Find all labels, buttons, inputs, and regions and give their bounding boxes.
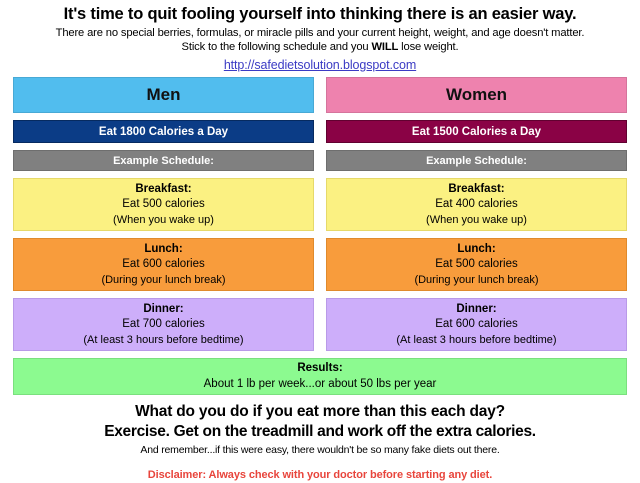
men-dinner-amount: Eat 700 calories — [18, 317, 309, 333]
women-dinner-amount: Eat 600 calories — [331, 317, 622, 333]
men-dinner-title: Dinner: — [18, 302, 309, 318]
schedule-grid: Men Eat 1800 Calories a Day Example Sche… — [0, 77, 640, 358]
results-title: Results: — [14, 361, 626, 377]
footer-question: What do you do if you eat more than this… — [8, 402, 632, 422]
subtitle-line-2-before: Stick to the following schedule and you — [182, 41, 372, 53]
women-breakfast-amount: Eat 400 calories — [331, 197, 622, 213]
disclaimer-text: Disclaimer: Always check with your docto… — [8, 469, 632, 481]
women-dinner-title: Dinner: — [331, 302, 622, 318]
women-breakfast-note: (When you wake up) — [331, 213, 622, 228]
men-breakfast-note: (When you wake up) — [18, 213, 309, 228]
women-lunch-title: Lunch: — [331, 242, 622, 258]
men-gender-header: Men — [13, 77, 314, 113]
women-lunch-amount: Eat 500 calories — [331, 257, 622, 273]
women-breakfast-card: Breakfast: Eat 400 calories (When you wa… — [326, 178, 627, 231]
women-lunch-note: (During your lunch break) — [331, 273, 622, 288]
subtitle-line-2: Stick to the following schedule and you … — [8, 40, 632, 55]
men-breakfast-amount: Eat 500 calories — [18, 197, 309, 213]
headline: It's time to quit fooling yourself into … — [8, 4, 632, 25]
women-dinner-note: (At least 3 hours before bedtime) — [331, 333, 622, 348]
men-lunch-card: Lunch: Eat 600 calories (During your lun… — [13, 238, 314, 291]
women-example-schedule-label: Example Schedule: — [326, 150, 627, 171]
men-lunch-title: Lunch: — [18, 242, 309, 258]
results-section: Results: About 1 lb per week...or about … — [0, 358, 640, 395]
footer-answer: Exercise. Get on the treadmill and work … — [8, 422, 632, 442]
footer-note: And remember...if this were easy, there … — [8, 444, 632, 456]
men-dinner-note: (At least 3 hours before bedtime) — [18, 333, 309, 348]
women-breakfast-title: Breakfast: — [331, 182, 622, 198]
footer-section: What do you do if you eat more than this… — [0, 395, 640, 481]
subtitle-line-2-after: lose weight. — [398, 41, 458, 53]
column-men: Men Eat 1800 Calories a Day Example Sche… — [13, 77, 314, 358]
men-breakfast-card: Breakfast: Eat 500 calories (When you wa… — [13, 178, 314, 231]
infographic-page: It's time to quit fooling yourself into … — [0, 0, 640, 483]
women-lunch-card: Lunch: Eat 500 calories (During your lun… — [326, 238, 627, 291]
subtitle-line-1: There are no special berries, formulas, … — [8, 26, 632, 41]
men-example-schedule-label: Example Schedule: — [13, 150, 314, 171]
men-dinner-card: Dinner: Eat 700 calories (At least 3 hou… — [13, 298, 314, 351]
results-card: Results: About 1 lb per week...or about … — [13, 358, 627, 395]
men-lunch-note: (During your lunch break) — [18, 273, 309, 288]
column-women: Women Eat 1500 Calories a Day Example Sc… — [326, 77, 627, 358]
women-dinner-card: Dinner: Eat 600 calories (At least 3 hou… — [326, 298, 627, 351]
header-section: It's time to quit fooling yourself into … — [0, 0, 640, 72]
women-calorie-target: Eat 1500 Calories a Day — [326, 120, 627, 143]
men-lunch-amount: Eat 600 calories — [18, 257, 309, 273]
women-gender-header: Women — [326, 77, 627, 113]
men-calorie-target: Eat 1800 Calories a Day — [13, 120, 314, 143]
men-breakfast-title: Breakfast: — [18, 182, 309, 198]
subtitle-line-2-emphasis: WILL — [371, 41, 398, 53]
source-url-link[interactable]: http://safedietsolution.blogspot.com — [8, 58, 632, 72]
results-text: About 1 lb per week...or about 50 lbs pe… — [14, 377, 626, 393]
